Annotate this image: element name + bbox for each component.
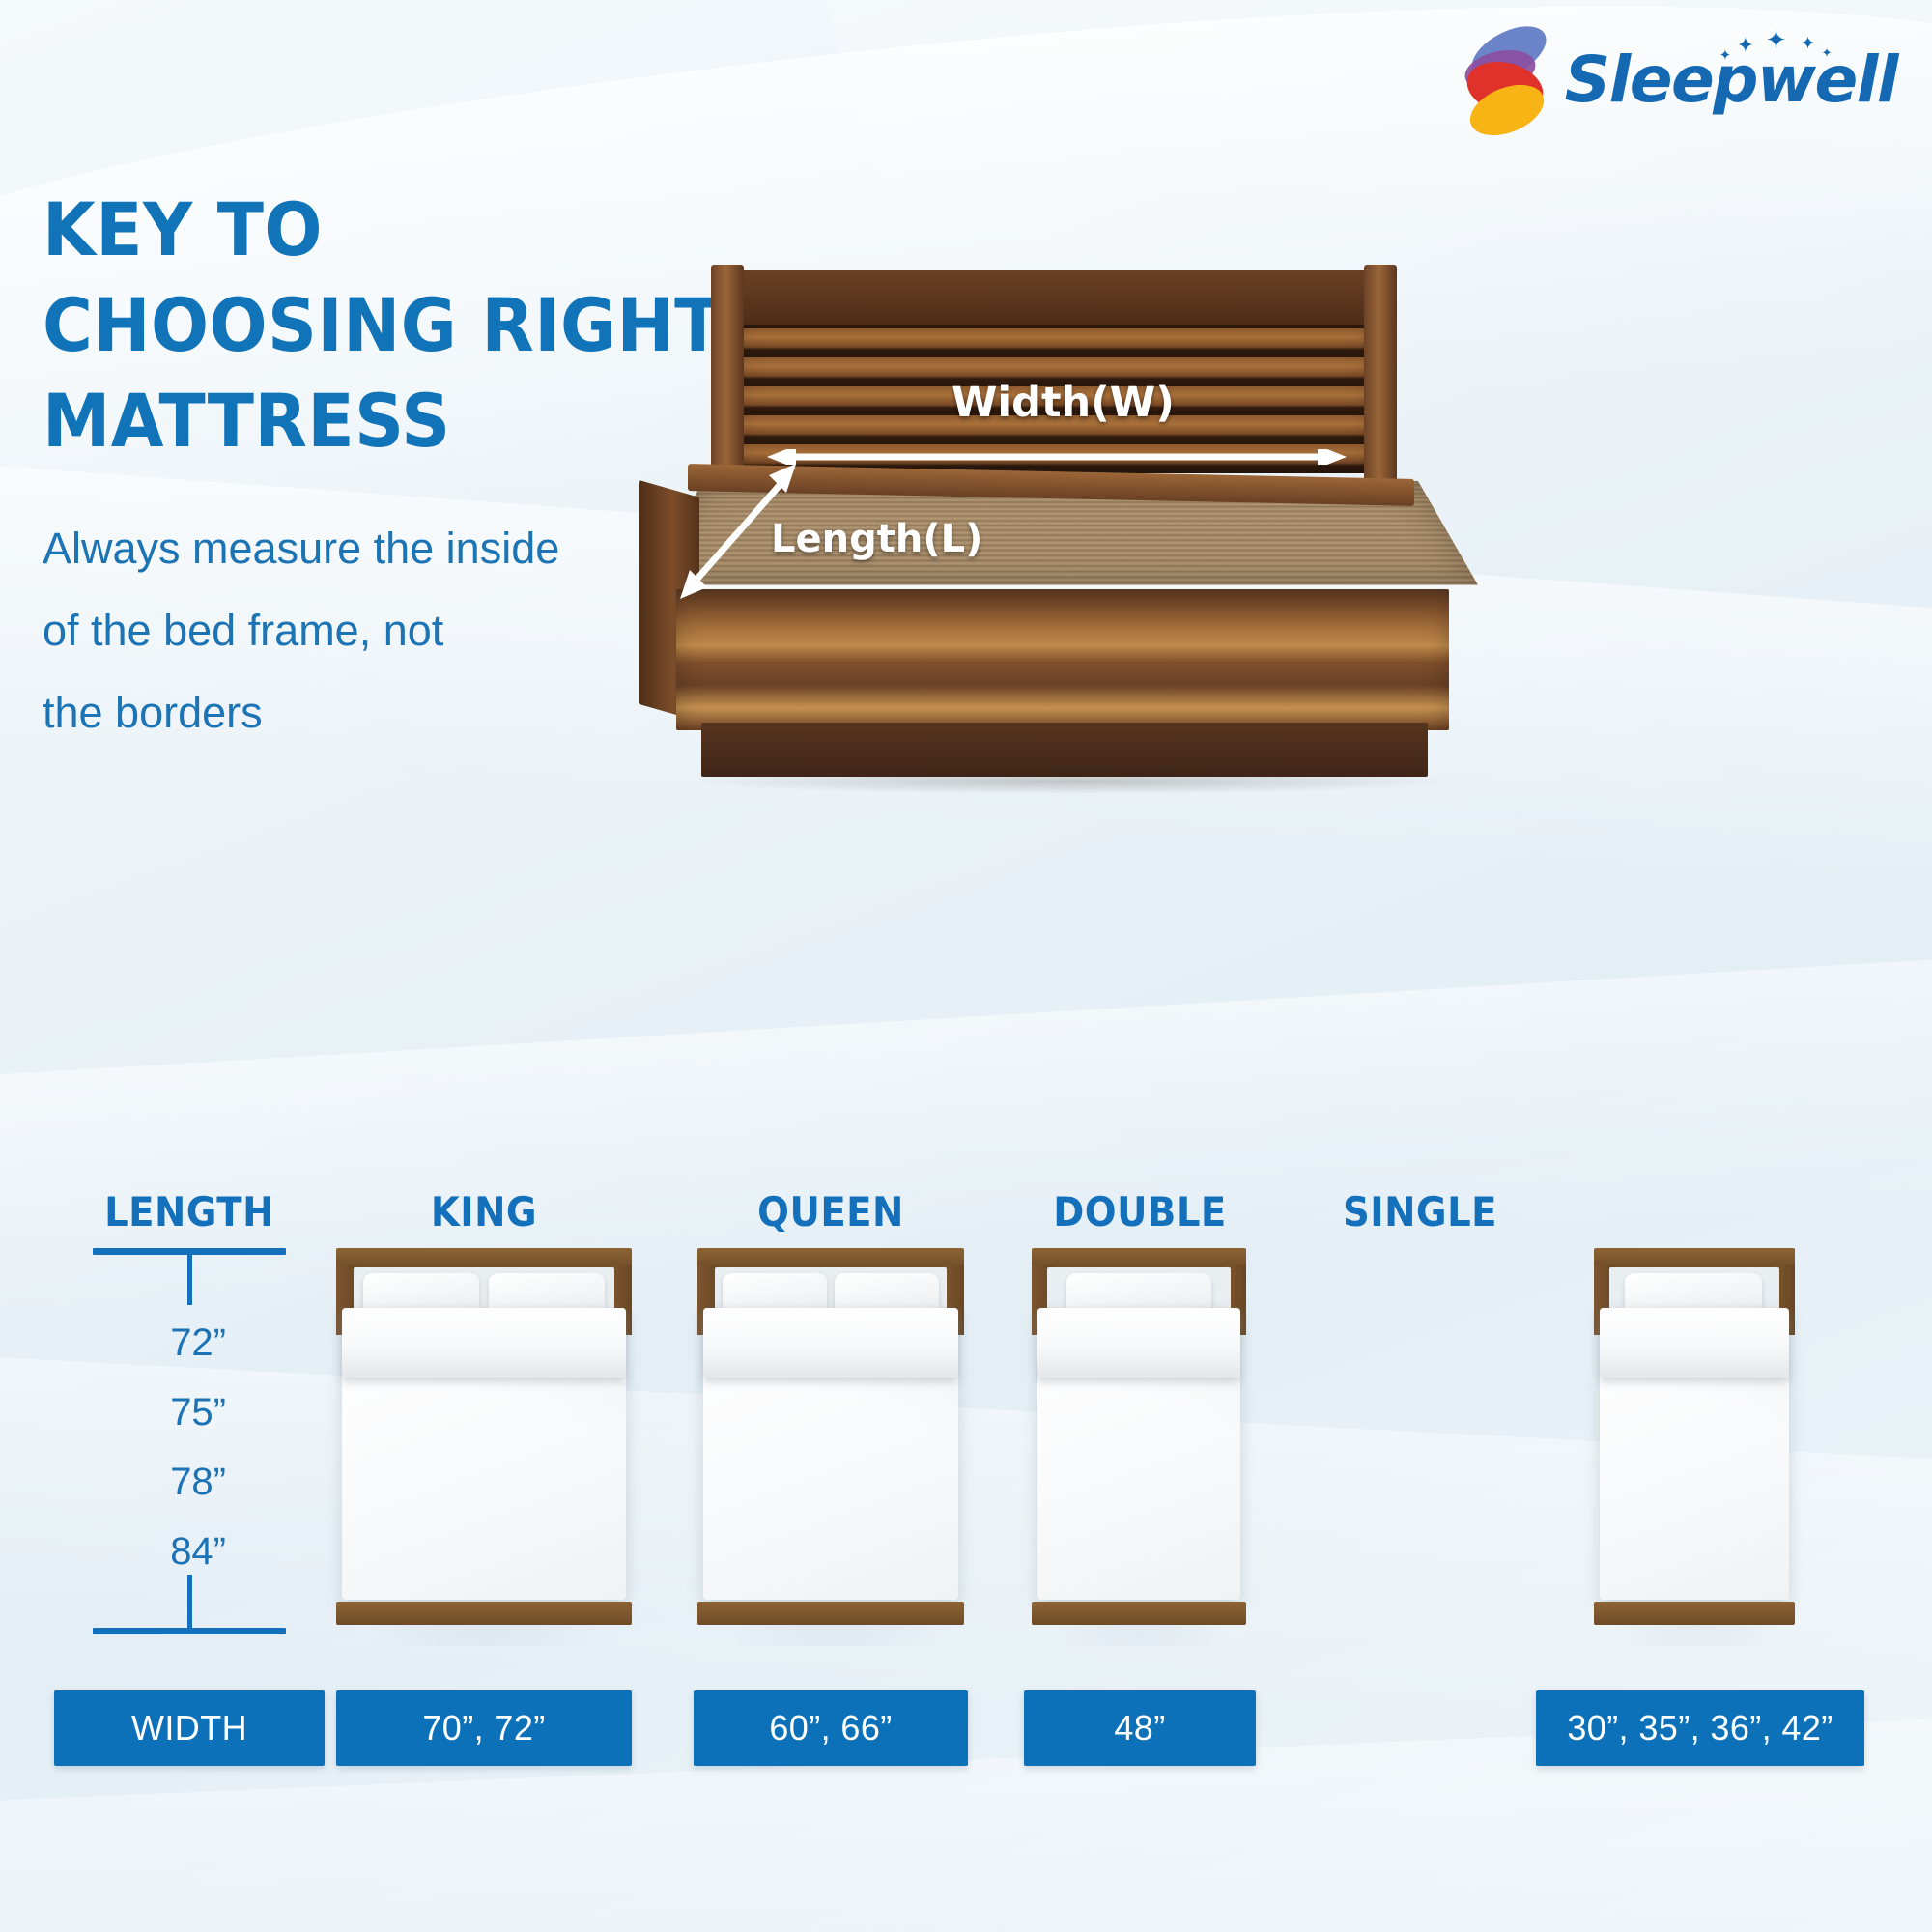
width-value: 48” — [1114, 1708, 1165, 1748]
headboard-post-right — [1364, 265, 1397, 489]
width-value-box-double: 48” — [1024, 1690, 1256, 1766]
headboard-bar — [336, 1248, 632, 1269]
width-value-box-queen: 60”, 66” — [694, 1690, 968, 1766]
footboard-bar — [1594, 1602, 1795, 1625]
length-axis-header: LENGTH — [65, 1188, 314, 1236]
column-header-single: SINGLE — [1314, 1188, 1527, 1236]
width-value-box-single: 30”, 35”, 36”, 42” — [1536, 1690, 1864, 1766]
sleepwell-swirl-icon — [1464, 30, 1548, 130]
headboard-bar — [1594, 1248, 1795, 1269]
headline-line-1: KEY TO — [43, 182, 743, 277]
bed-frame-front — [676, 589, 1449, 730]
subtitle-line-2: of the bed frame, not — [43, 589, 680, 671]
headboard-bar — [697, 1248, 964, 1269]
headboard-top-rail — [732, 270, 1378, 325]
width-value: 70”, 72” — [422, 1708, 545, 1748]
duvet-fold — [1037, 1308, 1240, 1378]
column-header-queen: QUEEN — [704, 1188, 956, 1236]
headboard-bar — [1032, 1248, 1246, 1269]
subtitle-line-1: Always measure the inside — [43, 507, 680, 589]
width-value: 60”, 66” — [769, 1708, 892, 1748]
bed-frame-illustration: Width(W) Length(L) — [618, 270, 1507, 792]
column-header-king: KING — [348, 1188, 620, 1236]
footboard-bar — [697, 1602, 964, 1625]
brand-logo: ✦✦✦✦✦ Sleepwell — [1464, 27, 1897, 133]
width-label: Width(W) — [952, 379, 1175, 427]
footboard-bar — [1032, 1602, 1246, 1625]
length-value: 84” — [93, 1517, 282, 1586]
bed-top-view-single — [1594, 1248, 1795, 1654]
bed-shadow — [686, 769, 1459, 794]
size-comparison-chart: LENGTH 72” 75” 78” 84” WIDTH KING — [0, 1188, 1932, 1826]
duvet-fold — [703, 1308, 958, 1378]
footboard-bar — [336, 1602, 632, 1625]
bed-top-view-king — [336, 1248, 632, 1654]
length-scale-bottom-cap — [93, 1628, 286, 1634]
length-value: 75” — [93, 1378, 282, 1447]
length-value: 78” — [93, 1447, 282, 1517]
infographic-canvas: ✦✦✦✦✦ Sleepwell KEY TO CHOOSING RIGHT MA… — [0, 0, 1932, 1932]
bed-top-view-queen — [697, 1248, 964, 1654]
width-arrow-icon — [767, 449, 1347, 465]
width-axis-header: WIDTH — [131, 1708, 247, 1748]
duvet-fold — [1600, 1308, 1789, 1378]
subtitle: Always measure the inside of the bed fra… — [43, 507, 680, 753]
width-axis-header-box: WIDTH — [54, 1690, 325, 1766]
width-value-box-king: 70”, 72” — [336, 1690, 632, 1766]
length-value-list: 72” 75” 78” 84” — [93, 1308, 282, 1586]
stars-icon: ✦✦✦✦✦ — [1719, 31, 1835, 64]
headboard-post-left — [711, 265, 744, 489]
length-scale-tick-top — [187, 1255, 192, 1305]
bed-top-view-double — [1032, 1248, 1246, 1654]
length-scale-top-cap — [93, 1248, 286, 1255]
length-value: 72” — [93, 1308, 282, 1378]
length-label: Length(L) — [771, 517, 982, 561]
width-value: 30”, 35”, 36”, 42” — [1567, 1708, 1833, 1748]
length-scale: 72” 75” 78” 84” — [93, 1248, 286, 1634]
duvet-fold — [342, 1308, 626, 1378]
column-header-double: DOUBLE — [1034, 1188, 1247, 1236]
subtitle-line-3: the borders — [43, 671, 680, 753]
